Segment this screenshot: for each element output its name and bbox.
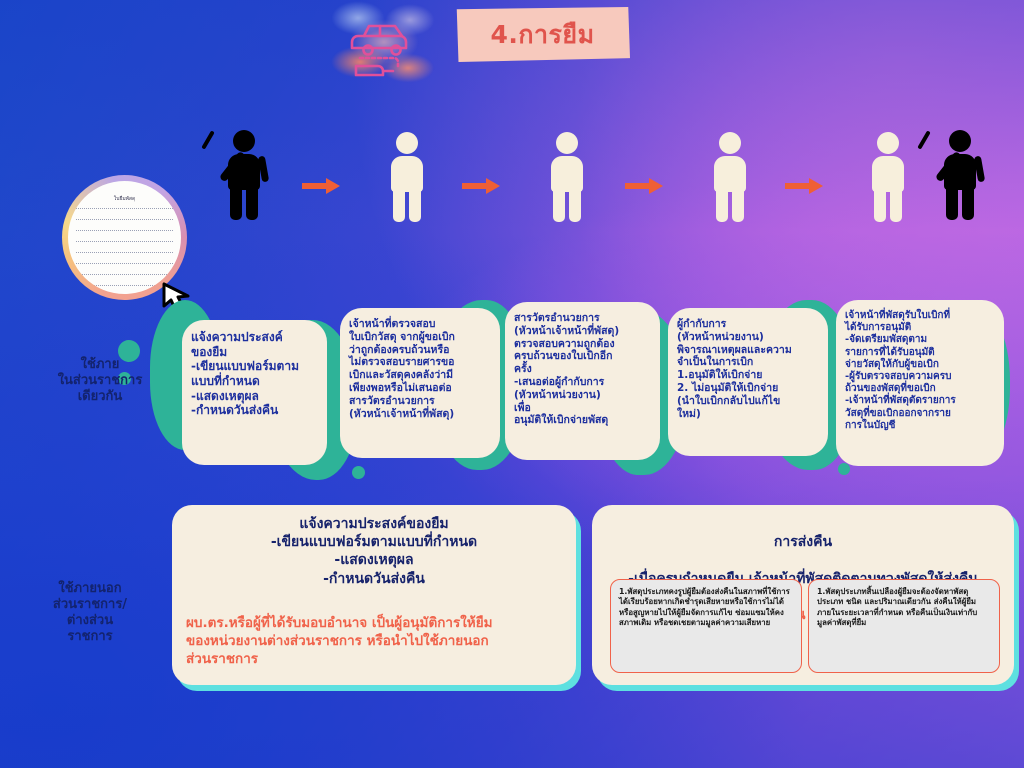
bottom-right-panel[interactable]: การส่งคืน -เมื่อครบกำหนดยืม เจ้าหน้าที่พ…: [592, 505, 1014, 685]
figure-leg-left: [946, 186, 958, 220]
figure-head: [556, 132, 578, 154]
figure-leg-right: [409, 188, 421, 222]
decorative-dot-7: [838, 463, 850, 475]
figure-leg-left: [716, 188, 728, 222]
bottom-left-heading: แจ้งความประสงค์ของยืม -เขียนแบบฟอร์มตามแ…: [172, 505, 576, 592]
figure-person-4: [866, 132, 910, 222]
figure-head: [396, 132, 418, 154]
figure-leg-right: [890, 188, 902, 222]
bottom-right-heading-line1: การส่งคืน: [600, 533, 1006, 551]
figure-head: [877, 132, 899, 154]
figure-person-1: [385, 132, 429, 222]
figure-leg-right: [246, 186, 258, 220]
return-note-2: 1.พัสดุประเภทสิ้นเปลืองผู้ยืมจะต้องจัดหา…: [808, 579, 1000, 673]
page-title: 4.การยืม: [490, 15, 594, 55]
figure-leg-left: [393, 188, 405, 222]
figure-person-2: [545, 132, 589, 222]
figure-head: [949, 130, 971, 152]
label-internal-use-text: ใช้ภาย ในส่วนราชการ เดียวกัน: [58, 357, 143, 406]
flow-arrow-4: [785, 178, 825, 194]
figure-pointer-stick: [201, 130, 214, 149]
header-artwork: [330, 0, 450, 88]
figure-head: [233, 130, 255, 152]
figure-body: [551, 156, 583, 192]
label-external-use: ใช้ภายนอก ส่วนราชการ/ ต่างส่วน ราชการ: [26, 572, 154, 654]
figure-leg-right: [569, 188, 581, 222]
step-card-1[interactable]: แจ้งความประสงค์ ของยืม -เขียนแบบฟอร์มตาม…: [182, 320, 327, 465]
title-banner: 4.การยืม: [455, 7, 630, 62]
figure-person-3: [708, 132, 752, 222]
figure-body: [391, 156, 423, 192]
return-note-1: 1.พัสดุประเภทคงรูปผู้ยืมต้องส่งคืนในสภาพ…: [610, 579, 802, 673]
step-card-3[interactable]: สารวัตรอำนวยการ (หัวหน้าเจ้าหน้าที่พัสดุ…: [505, 302, 660, 460]
figure-body: [872, 156, 904, 192]
decorative-dot-6: [352, 466, 365, 479]
step-card-5[interactable]: เจ้าหน้าที่พัสดุรับใบเบิกที่ ได้รับการอน…: [836, 300, 1004, 466]
flow-arrow-1: [302, 178, 342, 194]
step-card-2[interactable]: เจ้าหน้าที่ตรวจสอบ ใบเบิกวัสดุ จากผู้ขอเ…: [340, 308, 500, 458]
figure-leg-left: [230, 186, 242, 220]
figure-body: [714, 156, 746, 192]
car-handover-icon: [330, 0, 450, 88]
figure-pointer-stick: [917, 130, 930, 149]
label-external-use-text: ใช้ภายนอก ส่วนราชการ/ ต่างส่วน ราชการ: [53, 581, 127, 646]
figure-leg-right: [962, 186, 974, 220]
flow-arrow-3: [625, 178, 665, 194]
figure-head: [719, 132, 741, 154]
form-paper: ใบยืมพัสดุ: [68, 181, 181, 294]
label-internal-use: ใช้ภาย ในส่วนราชการ เดียวกัน: [36, 350, 164, 412]
figure-teacher-left: [222, 130, 266, 220]
figure-leg-left: [553, 188, 565, 222]
figure-teacher-right: [938, 130, 982, 220]
figure-leg-left: [874, 188, 886, 222]
flow-arrow-2: [462, 178, 502, 194]
form-title: ใบยืมพัสดุ: [114, 195, 135, 203]
bottom-left-body: ผบ.ตร.หรือผู้ที่ได้รับมอบอำนาจ เป็นผู้อน…: [172, 592, 576, 669]
step-card-4[interactable]: ผู้กำกับการ (หัวหน้าหน่วยงาน) พิจารณาเหต…: [668, 308, 828, 456]
bottom-left-panel[interactable]: แจ้งความประสงค์ของยืม -เขียนแบบฟอร์มตามแ…: [172, 505, 576, 685]
figure-leg-right: [732, 188, 744, 222]
